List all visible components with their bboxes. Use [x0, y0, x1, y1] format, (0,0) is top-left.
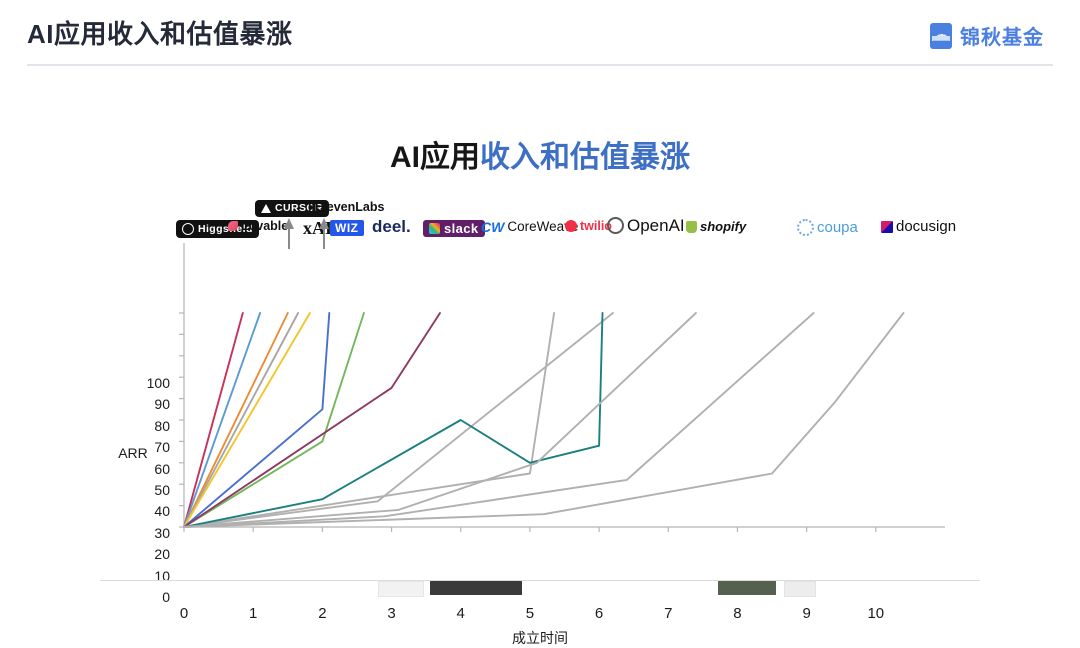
- plot-area: Higgsfield Lovable CURSOR IIElevenLabs x…: [0, 70, 1080, 590]
- series-line: [184, 313, 243, 527]
- y-tick-label: 70: [136, 439, 170, 455]
- y-tick-label: 30: [136, 525, 170, 541]
- arrow-annotations: [284, 218, 329, 249]
- x-tick-label: 4: [446, 605, 476, 622]
- series-line: [184, 313, 364, 527]
- axis-lines: [184, 243, 945, 527]
- y-tick-label: 60: [136, 461, 170, 477]
- y-tick-label: 40: [136, 503, 170, 519]
- x-tick-label: 9: [792, 605, 822, 622]
- y-tick-label: 20: [136, 546, 170, 562]
- brand-name: 锦秋基金: [960, 21, 1044, 50]
- x-tick-label: 2: [307, 605, 337, 622]
- series-line: [184, 313, 554, 527]
- filmstrip-divider: [100, 580, 980, 581]
- y-tick-label: 100: [136, 375, 170, 391]
- filmstrip-thumb[interactable]: [378, 581, 424, 597]
- header-divider: [27, 64, 1053, 66]
- slide-header: AI应用收入和估值暴涨 锦秋基金: [0, 0, 1080, 70]
- page-title: AI应用收入和估值暴涨: [27, 14, 293, 51]
- filmstrip-thumb[interactable]: [784, 581, 816, 597]
- series-line: [184, 313, 696, 527]
- filmstrip-thumb[interactable]: [718, 581, 776, 595]
- brand-logo: 锦秋基金: [930, 21, 1044, 50]
- filmstrip-thumb[interactable]: [430, 581, 522, 595]
- chart-block: AI应用收入和估值暴涨 Higgsfield Lovable CURSOR: [0, 70, 1080, 590]
- x-tick-label: 5: [515, 605, 545, 622]
- x-axis-label: 成立时间: [0, 628, 1080, 648]
- y-tick-label: 90: [136, 396, 170, 412]
- y-tick-label: 80: [136, 418, 170, 434]
- y-tick-marks: [179, 313, 184, 527]
- x-tick-label: 1: [238, 605, 268, 622]
- series-line: [184, 313, 814, 527]
- series-lines: [184, 313, 904, 527]
- series-line: [184, 313, 310, 527]
- x-tick-label: 8: [722, 605, 752, 622]
- slide-filmstrip: [0, 578, 1080, 596]
- series-line: [184, 313, 329, 527]
- y-tick-label: 50: [136, 482, 170, 498]
- brand-mark-icon: [930, 23, 952, 49]
- x-tick-marks: [184, 527, 876, 532]
- x-tick-label: 0: [169, 605, 199, 622]
- x-tick-label: 7: [653, 605, 683, 622]
- x-tick-label: 6: [584, 605, 614, 622]
- x-tick-label: 10: [861, 605, 891, 622]
- series-line: [184, 313, 298, 527]
- x-tick-label: 3: [377, 605, 407, 622]
